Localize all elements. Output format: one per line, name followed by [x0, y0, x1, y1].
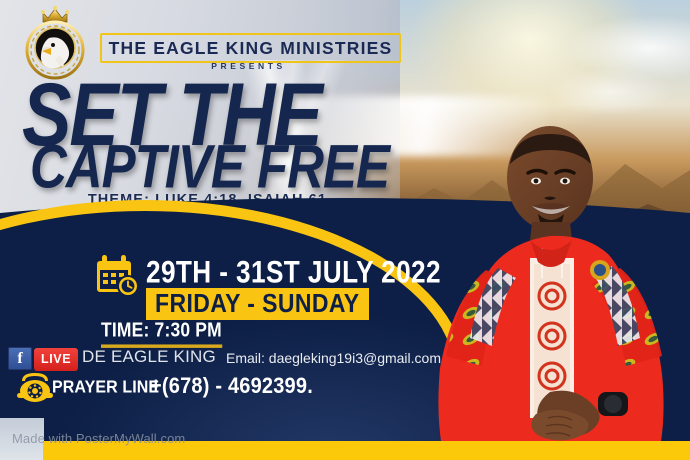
speaker-portrait	[432, 118, 690, 448]
facebook-icon[interactable]: f	[8, 347, 32, 370]
event-dates: 29TH - 31ST JULY 2022	[146, 254, 441, 291]
live-badge: LIVE	[34, 348, 78, 371]
title-line-2: CAPTIVE FREE	[30, 140, 389, 195]
event-flyer: THE EAGLE KING MINISTRIES PRESENTS SET T…	[0, 0, 690, 460]
email-address[interactable]: Email: daegleking19i3@gmail.com	[226, 350, 441, 366]
prayer-line-number[interactable]: +(678) - 4692399.	[150, 374, 313, 400]
calendar-clock-icon	[93, 252, 141, 300]
prayer-line-label: PRAYER LINE	[52, 378, 159, 398]
facebook-handle: DE EAGLE KING	[82, 347, 216, 367]
facebook-glyph: f	[17, 351, 22, 367]
watermark: Made with PosterMyWall.com	[12, 431, 185, 446]
ministry-name: THE EAGLE KING MINISTRIES	[109, 38, 393, 59]
event-days: FRIDAY - SUNDAY	[155, 288, 360, 319]
event-days-badge: FRIDAY - SUNDAY	[146, 288, 369, 320]
ministry-banner: THE EAGLE KING MINISTRIES	[100, 33, 401, 63]
live-label: LIVE	[41, 352, 71, 366]
event-time: TIME: 7:30 PM	[101, 318, 222, 348]
